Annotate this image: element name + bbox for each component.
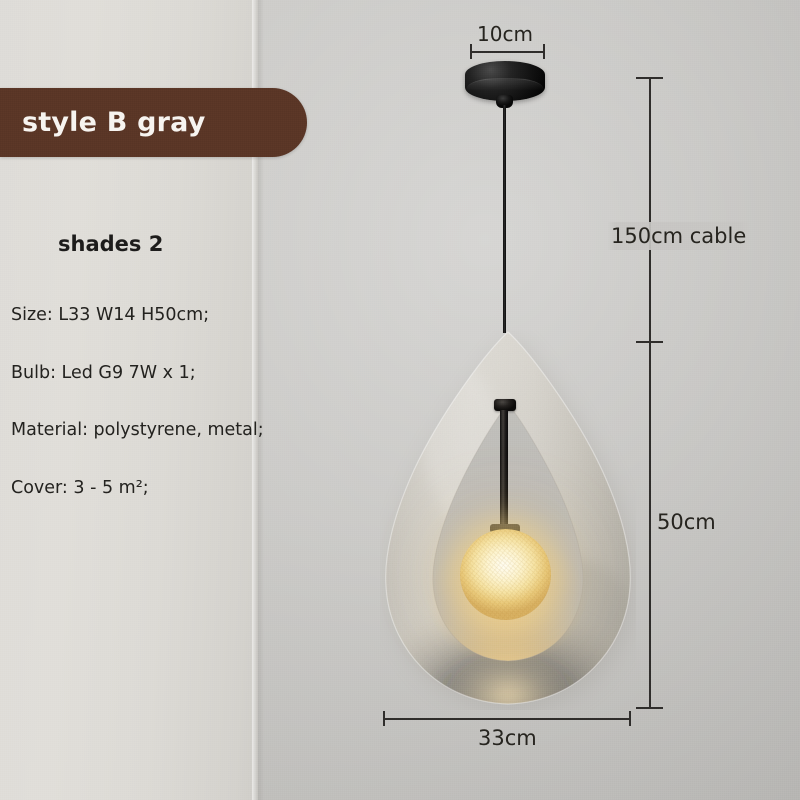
dimension-tick-shade-left (383, 711, 385, 726)
dimension-label-shade-width: 33cm (478, 726, 537, 750)
shade-shape (380, 330, 636, 710)
dimension-tick-canopy-right (543, 44, 545, 59)
bulb-rod (500, 410, 508, 528)
dimension-line-shade-width (383, 718, 630, 720)
suspension-cable (503, 105, 506, 333)
product-spec-image: style B gray shades 2 Size: L33 W14 H50c… (0, 0, 800, 800)
dimension-tick-bottom (636, 707, 663, 709)
dimension-tick-canopy-left (470, 44, 472, 59)
pendant-lamp (0, 0, 800, 800)
dimension-label-canopy-width: 10cm (477, 22, 533, 46)
dimension-tick-shade-right (629, 711, 631, 726)
bulb-texture (460, 529, 551, 620)
dimension-label-cable-length: 150cm cable (607, 222, 750, 250)
teardrop-shade (380, 330, 636, 710)
dimension-tick-top (636, 77, 663, 79)
dimension-label-shade-height: 50cm (657, 510, 716, 534)
dimension-line-canopy-width (470, 51, 545, 53)
dimension-tick-middle (636, 341, 663, 343)
light-bulb (460, 529, 551, 620)
dimension-line-vertical (649, 77, 651, 707)
